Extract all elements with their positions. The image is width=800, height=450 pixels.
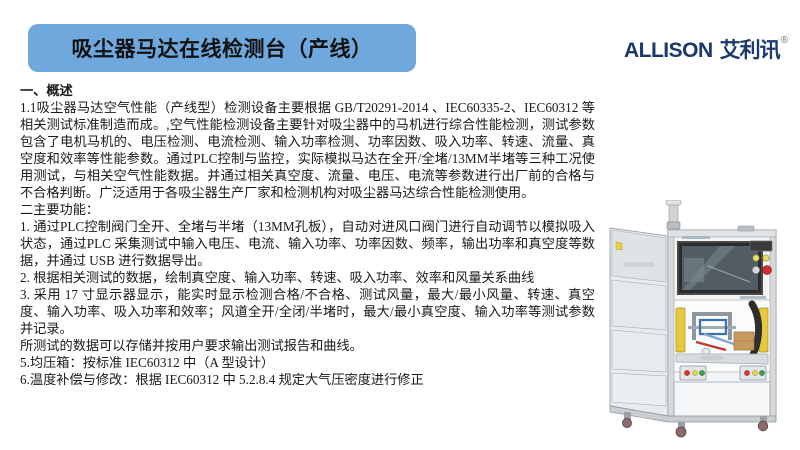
page-title: 吸尘器马达在线检测台（产线） xyxy=(72,33,373,63)
section-one-paragraph: 1.1吸尘器马达空气性能（产线型）检测设备主要根据 GB/T20291-2014… xyxy=(20,99,595,201)
function-item: 5.均压箱：按标准 IEC60312 中（A 型设计） xyxy=(20,354,595,371)
work-chamber xyxy=(674,300,770,372)
hinge-icon xyxy=(738,226,754,231)
label-strip xyxy=(682,236,710,239)
emergency-stop-button xyxy=(763,266,772,275)
start-button xyxy=(759,370,764,375)
stop-button xyxy=(744,370,749,375)
digital-display xyxy=(750,241,772,251)
function-item: 2. 根据相关测试的数据，绘制真空度、输入功率、转速、吸入功率、效率和风量关系曲… xyxy=(20,269,595,286)
cabinet-left-panel xyxy=(610,228,668,416)
stop-button xyxy=(684,370,689,375)
selector-switch xyxy=(752,266,759,273)
button-box-left xyxy=(680,366,706,380)
logo-latin-text: ALLISON xyxy=(624,40,713,61)
logo-chinese-text: 艾利讯 xyxy=(720,40,780,61)
function-item: 所测试的数据可以存储并按用户要求输出测试报告和曲线。 xyxy=(20,337,595,354)
machine-photo xyxy=(600,200,798,440)
body-content: 一、概述 1.1吸尘器马达空气性能（产线型）检测设备主要根据 GB/T20291… xyxy=(20,82,595,388)
function-item: 6.温度补偿与修改：根据 IEC60312 中 5.2.8.4 规定大气压密度进… xyxy=(20,371,595,388)
section-one-heading: 一、概述 xyxy=(20,82,595,99)
function-item: 1. 通过PLC控制阀门全开、全堵与半堵（13MM孔板），自动对进风口阀门进行自… xyxy=(20,218,595,269)
cabinet-lower-door xyxy=(674,382,770,420)
viewing-window xyxy=(678,242,762,294)
reset-button xyxy=(692,370,697,375)
slide-root: 吸尘器马达在线检测台（产线） ALLISON 艾利讯 ® 一、概述 1.1吸尘器… xyxy=(0,0,800,450)
function-item: 3. 采用 17 寸显示器显示，能实时显示检测合格/不合格、测试风量，最大/最小… xyxy=(20,286,595,337)
indicator-lamp-yellow xyxy=(753,255,759,261)
section-two-heading: 二主要功能： xyxy=(20,201,595,218)
registered-trademark-icon: ® xyxy=(781,36,788,46)
button-box-right xyxy=(740,366,766,380)
start-button xyxy=(699,370,704,375)
company-logo: ALLISON 艾利讯 ® xyxy=(624,40,788,61)
label-strip xyxy=(740,296,766,299)
indicator-lamp-yellow xyxy=(763,255,769,261)
title-banner: 吸尘器马达在线检测台（产线） xyxy=(28,24,416,72)
light-curtain-left xyxy=(676,308,685,352)
machine-photo-graphic xyxy=(600,200,798,440)
reset-button xyxy=(752,370,757,375)
